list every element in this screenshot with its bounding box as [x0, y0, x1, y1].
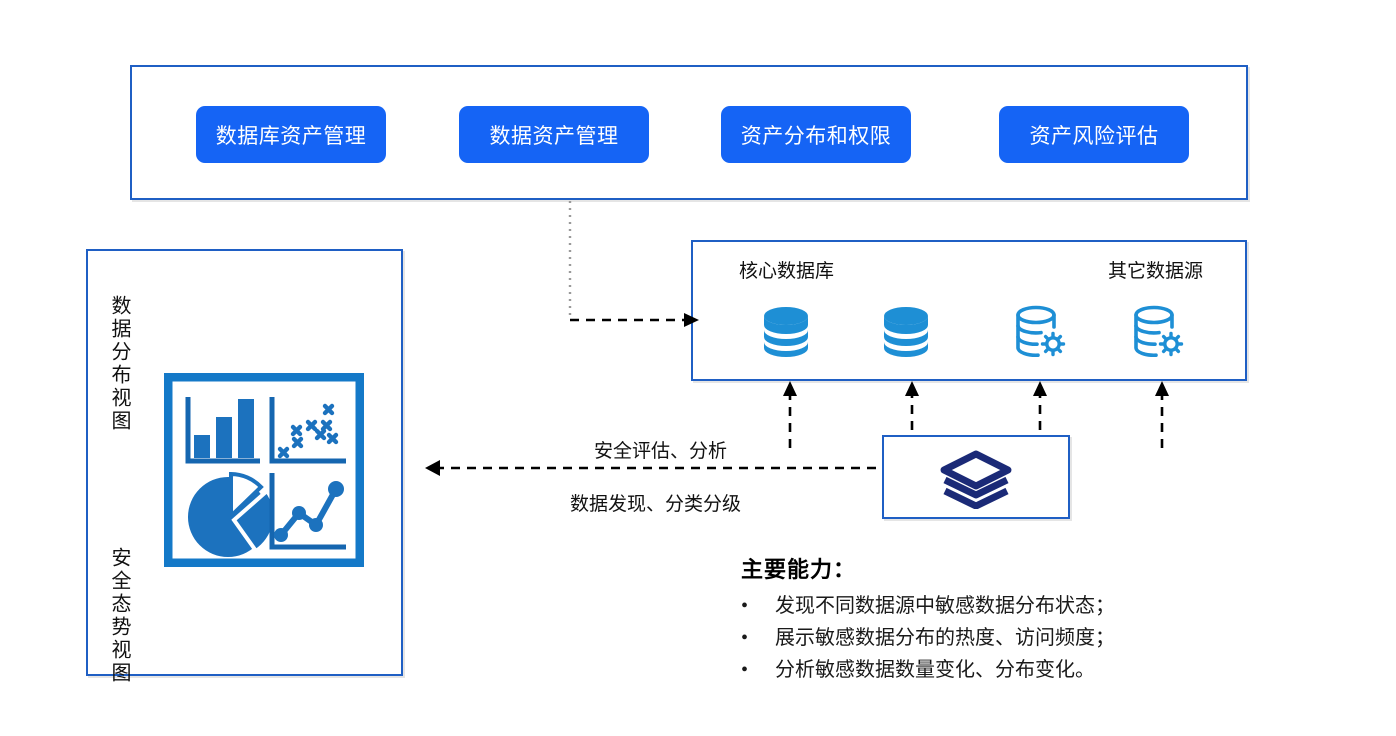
database-filled-icon	[755, 300, 817, 362]
capability-chip-label: 资产风险评估	[1030, 120, 1159, 150]
database-gear-icon	[1127, 300, 1189, 362]
arrowhead-left	[425, 460, 440, 476]
bullet-icon: •	[741, 590, 775, 622]
datasource-panel: 核心数据库 其它数据源	[691, 240, 1247, 381]
capabilities-item-text: 分析敏感数据数量变化、分布变化。	[775, 654, 1095, 686]
capabilities-block: 主要能力： • 发现不同数据源中敏感数据分布状态； • 展示敏感数据分布的热度、…	[741, 552, 1171, 686]
capability-chip-label: 数据库资产管理	[216, 120, 367, 150]
line-chart-icon	[272, 473, 346, 547]
capabilities-item-text: 展示敏感数据分布的热度、访问频度；	[775, 622, 1115, 654]
capability-chip-data-asset-management[interactable]: 数据资产管理	[459, 106, 649, 163]
arrowhead-up-4	[1155, 381, 1169, 396]
arrowhead-up-1	[783, 381, 797, 396]
database-filled-icon	[875, 300, 937, 362]
capabilities-item: • 发现不同数据源中敏感数据分布状态；	[741, 590, 1171, 622]
database-gear-icon	[1009, 300, 1071, 362]
capability-bar-panel: 数据库资产管理 数据资产管理 资产分布和权限 资产风险评估	[130, 65, 1248, 200]
view-label-data-distribution: 数据分布视图	[104, 295, 134, 433]
flow-label-data-discovery: 数据发现、分类分级	[570, 489, 741, 516]
dashboard-charts-icon	[164, 373, 364, 567]
layers-stack-icon	[934, 449, 1018, 509]
datasource-title-core: 核心数据库	[739, 256, 834, 283]
capability-chip-label: 资产分布和权限	[741, 120, 892, 150]
diagram-canvas: 数据库资产管理 数据资产管理 资产分布和权限 资产风险评估 数据分布视图 安全态…	[0, 0, 1396, 736]
capabilities-item: • 展示敏感数据分布的热度、访问频度；	[741, 622, 1171, 654]
capability-chip-asset-distribution-permissions[interactable]: 资产分布和权限	[721, 106, 911, 163]
flow-label-security-assessment: 安全评估、分析	[594, 436, 727, 463]
bar-chart-icon	[188, 397, 260, 461]
capability-chip-database-asset-management[interactable]: 数据库资产管理	[196, 106, 386, 163]
arrowhead-up-3	[1033, 381, 1047, 396]
capability-chip-asset-risk-assessment[interactable]: 资产风险评估	[999, 106, 1189, 163]
capabilities-item: • 分析敏感数据数量变化、分布变化。	[741, 654, 1171, 686]
capabilities-item-text: 发现不同数据源中敏感数据分布状态；	[775, 590, 1115, 622]
engine-box	[882, 435, 1070, 519]
view-label-security-posture: 安全态势视图	[104, 547, 134, 685]
pie-chart-icon	[188, 474, 275, 557]
scatter-chart-icon	[272, 397, 346, 461]
capability-chip-label: 数据资产管理	[490, 120, 619, 150]
views-panel: 数据分布视图 安全态势视图	[86, 249, 403, 676]
datasource-title-other: 其它数据源	[1108, 256, 1203, 283]
bullet-icon: •	[741, 622, 775, 654]
capabilities-heading: 主要能力：	[741, 552, 1171, 584]
bullet-icon: •	[741, 654, 775, 686]
arrowhead-up-2	[905, 381, 919, 396]
